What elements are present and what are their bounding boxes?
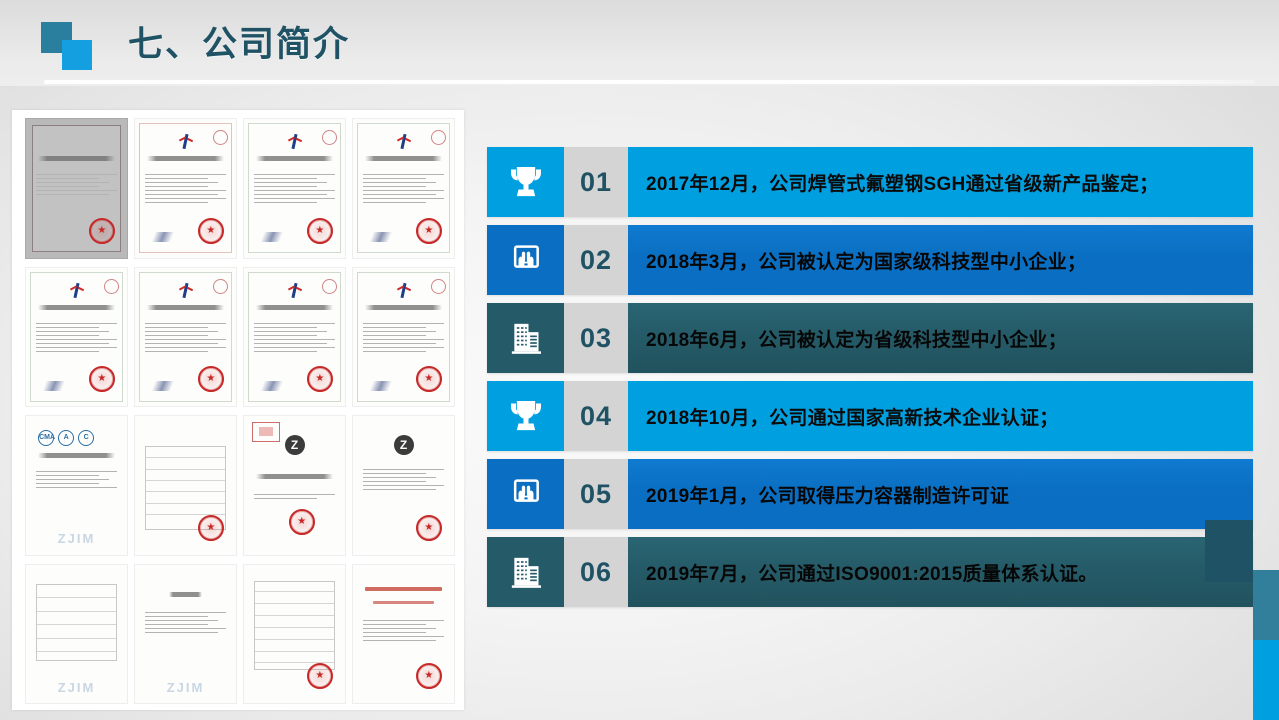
patent-emblem-icon (396, 283, 412, 300)
certificate-thumb[interactable]: Z (352, 415, 455, 556)
certificate-thumb[interactable] (352, 267, 455, 408)
certificate-body-lines (145, 323, 226, 373)
signature-icon (368, 232, 400, 242)
red-seal-icon (89, 218, 115, 244)
certificate-title-line (147, 305, 224, 310)
patent-emblem-icon (178, 134, 194, 151)
red-seal-icon (198, 218, 224, 244)
certificate-thumb[interactable] (243, 564, 346, 705)
corner-stamp-icon (213, 279, 228, 294)
milestone-text: 2019年7月，公司通过ISO9001:2015质量体系认证。 (628, 537, 1253, 607)
page-title: 七、公司简介 (128, 16, 350, 67)
red-seal-icon (307, 218, 333, 244)
certificate-body-lines (363, 174, 444, 224)
tablet-hands-icon (487, 225, 564, 295)
milestone-number: 04 (564, 381, 628, 451)
z-mark-icon: Z (285, 435, 305, 455)
milestone-row[interactable]: 01 2017年12月，公司焊管式氟塑钢SGH通过省级新产品鉴定； (487, 147, 1253, 217)
signature-icon (368, 381, 400, 391)
logo-square-light-icon (62, 40, 92, 70)
milestone-text: 2017年12月，公司焊管式氟塑钢SGH通过省级新产品鉴定； (628, 147, 1253, 217)
patent-emblem-icon (287, 134, 303, 151)
signature-icon (150, 232, 182, 242)
certificate-thumb[interactable] (134, 415, 237, 556)
milestone-text: 2018年10月，公司通过国家高新技术企业认证； (628, 381, 1253, 451)
header-divider (44, 80, 1255, 84)
certificate-thumb[interactable]: ZJIM (134, 564, 237, 705)
milestone-number: 05 (564, 459, 628, 529)
signature-icon (259, 381, 291, 391)
certificate-title-line (38, 305, 115, 310)
red-seal-icon (307, 366, 333, 392)
signature-icon (41, 381, 73, 391)
certificate-grid: CMAAC ZJIM Z (25, 118, 455, 704)
certificate-thumb[interactable]: ZJIM (25, 564, 128, 705)
red-seal-icon (198, 515, 224, 541)
milestone-row[interactable]: 02 2018年3月，公司被认定为国家级科技型中小企业； (487, 225, 1253, 295)
watermark-text: ZJIM (167, 680, 205, 695)
corner-stamp-icon (431, 130, 446, 145)
corner-stamp-icon (104, 279, 119, 294)
trophy-icon (487, 381, 564, 451)
certificate-title-line (256, 474, 333, 479)
certificate-panel: CMAAC ZJIM Z (12, 110, 464, 710)
slide-header: 七、公司简介 (0, 0, 1279, 86)
red-seal-icon (289, 509, 315, 535)
certificate-thumb[interactable] (134, 118, 237, 259)
patent-emblem-icon (69, 283, 85, 300)
red-subheading-line (373, 601, 434, 604)
milestone-number: 03 (564, 303, 628, 373)
accent-teal-block (1253, 570, 1279, 640)
data-table-outline (36, 584, 117, 662)
patent-emblem-icon (178, 283, 194, 300)
certificate-thumb[interactable] (243, 267, 346, 408)
certificate-title-line (169, 592, 201, 597)
red-seal-icon (307, 663, 333, 689)
z-mark-icon: Z (394, 435, 414, 455)
trophy-icon (487, 147, 564, 217)
building-icon (487, 537, 564, 607)
certificate-body-lines (145, 612, 226, 665)
watermark-text: ZJIM (58, 531, 96, 546)
red-seal-icon (416, 663, 442, 689)
certificate-title-line (256, 305, 333, 310)
certificate-title-line (365, 305, 442, 310)
corner-stamp-icon (322, 130, 337, 145)
slide: 七、公司简介 (0, 0, 1279, 720)
milestone-number: 06 (564, 537, 628, 607)
certificate-body-lines (363, 323, 444, 373)
corner-stamp-icon (322, 279, 337, 294)
patent-emblem-icon (396, 134, 412, 151)
certificate-title-line (38, 156, 115, 161)
milestone-list: 01 2017年12月，公司焊管式氟塑钢SGH通过省级新产品鉴定； 02 201… (487, 147, 1253, 615)
red-seal-icon (416, 515, 442, 541)
accent-cyan-block (1253, 640, 1279, 720)
certificate-body-lines (254, 323, 335, 373)
corner-stamp-icon (431, 279, 446, 294)
red-seal-icon (198, 366, 224, 392)
red-seal-icon (416, 218, 442, 244)
certificate-thumb[interactable] (352, 564, 455, 705)
certificate-title-line (38, 453, 115, 458)
milestone-text: 2018年3月，公司被认定为国家级科技型中小企业； (628, 225, 1253, 295)
accent-dark-block (1205, 520, 1253, 582)
milestone-text: 2018年6月，公司被认定为省级科技型中小企业； (628, 303, 1253, 373)
certificate-thumb[interactable] (25, 267, 128, 408)
certificate-title-line (147, 156, 224, 161)
milestone-number: 02 (564, 225, 628, 295)
certificate-thumb[interactable] (134, 267, 237, 408)
red-seal-icon (89, 366, 115, 392)
red-stamp-box-icon (252, 422, 280, 442)
milestone-row[interactable]: 05 2019年1月，公司取得压力容器制造许可证 (487, 459, 1253, 529)
data-table-outline (254, 581, 335, 670)
certificate-body-lines (145, 174, 226, 224)
certificate-thumb[interactable]: Z (243, 415, 346, 556)
red-seal-icon (416, 366, 442, 392)
certificate-thumb[interactable]: CMAAC ZJIM (25, 415, 128, 556)
accreditation-badges-icon: CMAAC (38, 430, 115, 446)
watermark-text: ZJIM (58, 680, 96, 695)
certificate-title-line (365, 156, 442, 161)
milestone-row[interactable]: 06 2019年7月，公司通过ISO9001:2015质量体系认证。 (487, 537, 1253, 607)
certificate-title-line (256, 156, 333, 161)
signature-icon (150, 381, 182, 391)
accent-top-line (1205, 512, 1253, 517)
milestone-row[interactable]: 03 2018年6月，公司被认定为省级科技型中小企业； (487, 303, 1253, 373)
certificate-thumb[interactable] (243, 118, 346, 259)
certificate-body-lines (36, 323, 117, 373)
certificate-body-lines (363, 469, 444, 519)
certificate-body-lines (36, 174, 117, 224)
certificate-body-lines (254, 174, 335, 224)
tablet-hands-icon (487, 459, 564, 529)
building-icon (487, 303, 564, 373)
certificate-body-lines (36, 471, 117, 521)
milestone-text: 2019年1月，公司取得压力容器制造许可证 (628, 459, 1253, 529)
signature-icon (259, 232, 291, 242)
milestone-row[interactable]: 04 2018年10月，公司通过国家高新技术企业认证； (487, 381, 1253, 451)
certificate-thumb[interactable] (25, 118, 128, 259)
milestone-number: 01 (564, 147, 628, 217)
patent-emblem-icon (287, 283, 303, 300)
red-heading-line (365, 587, 442, 591)
corner-stamp-icon (213, 130, 228, 145)
certificate-thumb[interactable] (352, 118, 455, 259)
